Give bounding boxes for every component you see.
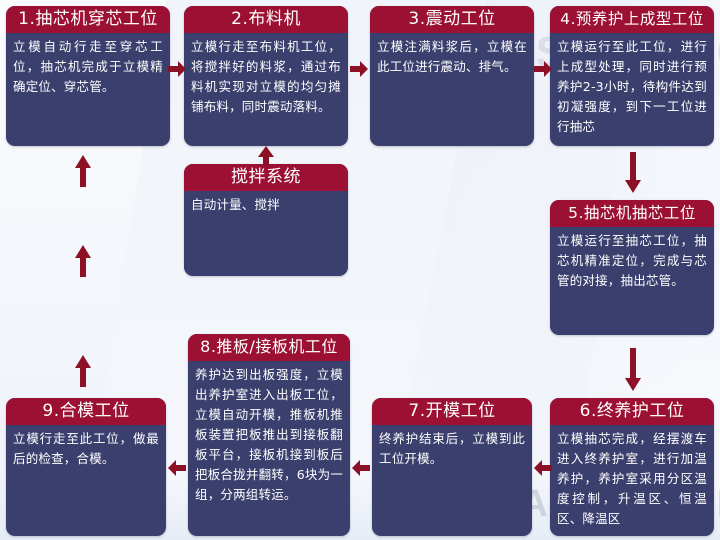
node-station-2[interactable]: 2.布料机 立模行走至布料机工位，将搅拌好的料浆，通过布料机实现对立模的均匀摊铺… [184,6,348,146]
node-station-7-title: 7.开模工位 [372,398,532,425]
node-station-9-body: 立模行走至此工位，做最后的检查，合模。 [6,425,166,475]
node-station-8-body: 养护达到出板强度，立模出养护室进入出板工位，立模自动开模，推板机推板装置把板推出… [188,361,350,511]
arrow-mixing-up [74,245,92,277]
arrow-8-to-9 [168,459,186,477]
node-station-5[interactable]: 5.抽芯机抽芯工位 立模运行至抽芯工位，抽芯机精准定位，完成与芯管的对接，抽出芯… [550,200,714,335]
arrow-mixing-to-2 [257,146,275,166]
node-station-1-body: 立模自动行走至穿芯工位，抽芯机完成于立模精确定位、穿芯管。 [6,33,170,103]
flowchart-canvas: NEWS PHOTO MANA COMPANY 1.抽芯机穿芯工位 立模自动行走… [0,0,720,540]
node-station-6-body: 立模抽芯完成，经摆渡车进入终养护室，进行加温养护，养护室采用分区温度控制，升温区… [550,425,714,535]
node-station-4[interactable]: 4.预养护上成型工位 立模运行至此工位，进行上成型处理，同时进行预养护2-3小时… [550,6,714,146]
arrow-up-to-1 [74,155,92,187]
node-station-6-title: 6.终养护工位 [550,398,714,425]
node-station-3-title: 3.震动工位 [370,6,534,33]
node-mixing-system-title: 搅拌系统 [184,164,348,191]
node-station-4-body: 立模运行至此工位，进行上成型处理，同时进行预养护2-3小时，待构件达到初凝强度，… [550,33,714,143]
node-station-1[interactable]: 1.抽芯机穿芯工位 立模自动行走至穿芯工位，抽芯机完成于立模精确定位、穿芯管。 [6,6,170,146]
arrow-7-to-8 [352,459,370,477]
node-station-5-title: 5.抽芯机抽芯工位 [550,200,714,227]
node-station-1-title: 1.抽芯机穿芯工位 [6,6,170,33]
node-mixing-system[interactable]: 搅拌系统 自动计量、搅拌 [184,164,348,276]
node-station-4-title: 4.预养护上成型工位 [550,6,714,33]
node-station-9[interactable]: 9.合模工位 立模行走至此工位，做最后的检查，合模。 [6,398,166,536]
node-station-8-title: 8.推板/接板机工位 [188,334,350,361]
node-station-2-title: 2.布料机 [184,6,348,33]
node-station-7-body: 终养护结束后，立模到此工位开模。 [372,425,532,475]
node-station-9-title: 9.合模工位 [6,398,166,425]
node-station-6[interactable]: 6.终养护工位 立模抽芯完成，经摆渡车进入终养护室，进行加温养护，养护室采用分区… [550,398,714,536]
node-station-5-body: 立模运行至抽芯工位，抽芯机精准定位，完成与芯管的对接，抽出芯管。 [550,227,714,297]
arrow-2-to-3 [350,60,368,78]
arrow-9-to-mixing [74,355,92,387]
node-station-3-body: 立模注满料浆后，立模在此工位进行震动、排气。 [370,33,534,83]
node-station-3[interactable]: 3.震动工位 立模注满料浆后，立模在此工位进行震动、排气。 [370,6,534,146]
arrow-4-to-5 [624,152,642,194]
arrow-5-to-6 [624,348,642,392]
node-mixing-system-body: 自动计量、搅拌 [184,191,348,221]
node-station-7[interactable]: 7.开模工位 终养护结束后，立模到此工位开模。 [372,398,532,536]
node-station-2-body: 立模行走至布料机工位，将搅拌好的料浆，通过布料机实现对立模的均匀摊铺布料，同时震… [184,33,348,123]
node-station-8[interactable]: 8.推板/接板机工位 养护达到出板强度，立模出养护室进入出板工位，立模自动开模，… [188,334,350,536]
